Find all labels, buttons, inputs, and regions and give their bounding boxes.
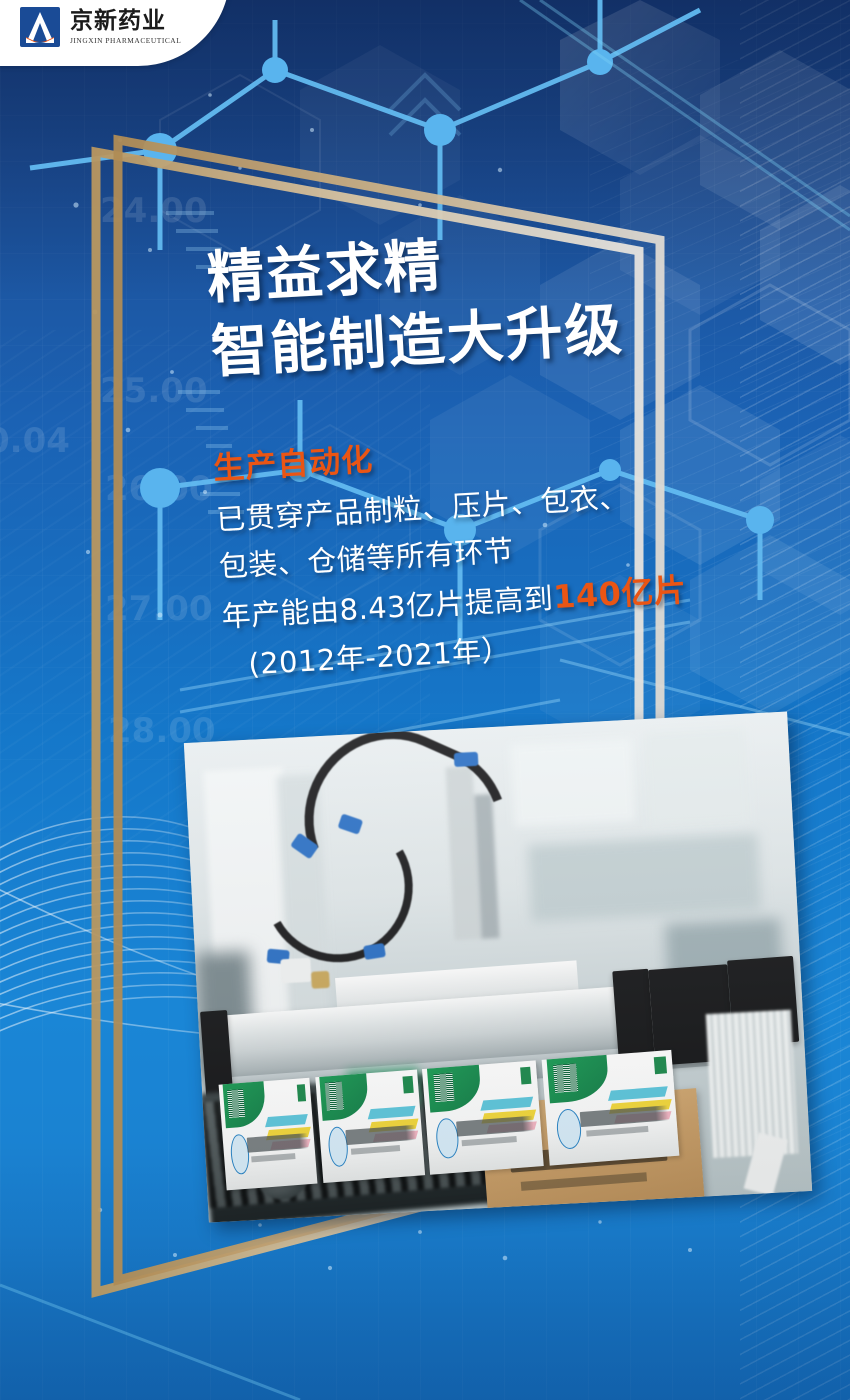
photo-haze-overlay — [184, 712, 812, 1223]
background-numbers: 24.00 25.00 26.00 27.00 28.00 0.04 — [0, 191, 216, 751]
body-line-3-prefix: 年产能由8.43亿片提高到 — [221, 581, 554, 633]
body-line-3-highlight: 140亿片 — [552, 571, 687, 616]
jingxin-mountain-mark-icon — [20, 7, 60, 47]
body-copy-block: 生产自动化 已贯穿产品制粒、压片、包衣、 包装、仓储等所有环节 年产能由8.43… — [212, 406, 850, 689]
logo-name-cn: 京新药业 — [70, 9, 181, 33]
bg-number: 0.04 — [0, 421, 70, 461]
production-line-photo — [184, 712, 812, 1223]
poster-root: 24.00 25.00 26.00 27.00 28.00 0.04 — [0, 0, 850, 1400]
logo-name-en: JINGXIN PHARMACEUTICAL — [70, 36, 181, 45]
